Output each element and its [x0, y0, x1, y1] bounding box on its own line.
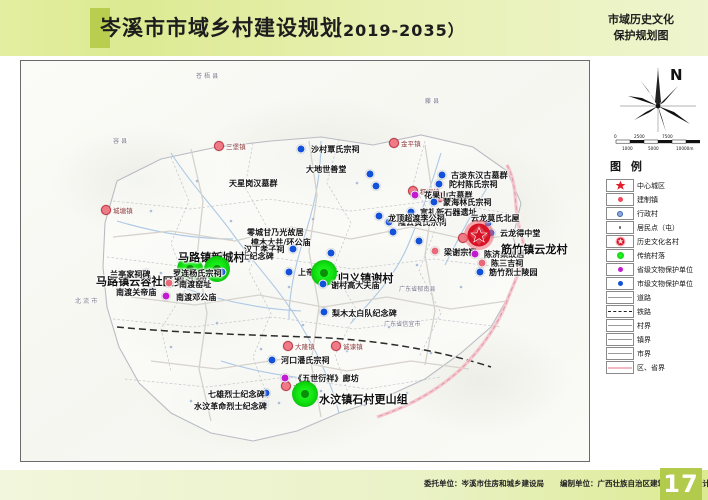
legend-label: 区、省界	[637, 363, 665, 373]
site-marker-municipal[interactable]	[268, 356, 277, 365]
historic-village-icon	[462, 218, 496, 252]
road-line-icon	[608, 297, 632, 298]
town-dot-icon	[618, 197, 623, 202]
legend-label: 行政村	[637, 209, 658, 219]
site-label: 水汶革命烈士纪念碑	[194, 401, 267, 412]
compass-north-label: N	[670, 66, 683, 84]
municipal-relic-icon	[618, 281, 623, 286]
site-marker-provincial[interactable]	[411, 191, 420, 200]
site-marker-municipal[interactable]	[430, 198, 439, 207]
historic-village-icon	[615, 236, 626, 247]
legend-item-railway[interactable]: 铁路	[606, 305, 706, 318]
site-marker-municipal[interactable]	[289, 245, 298, 254]
svg-text:7500: 7500	[662, 134, 673, 139]
legend-item-city-boundary[interactable]: 市界	[606, 347, 706, 360]
city-boundary-icon	[608, 353, 632, 354]
site-marker-municipal[interactable]	[319, 280, 328, 289]
legend-item-town-boundary[interactable]: 镇界	[606, 333, 706, 346]
site-marker-municipal[interactable]	[389, 228, 398, 237]
area-label: 北 流 市	[75, 296, 97, 305]
site-label: 南渡窑址	[179, 279, 211, 290]
compass-rose: N	[612, 62, 704, 134]
map-subtitle-line1: 市域历史文化	[586, 12, 696, 28]
legend-item-town[interactable]: 建制镇	[606, 193, 706, 206]
legend-label: 镇界	[637, 335, 651, 345]
site-marker-municipal[interactable]	[415, 237, 424, 246]
legend-swatch	[606, 361, 634, 374]
province-boundary-icon	[608, 367, 632, 369]
area-label: 广东省郁南县	[399, 284, 436, 293]
town-label: 诚谏镇	[343, 341, 363, 351]
legend-title: 图 例	[610, 158, 706, 174]
legend-item-residence[interactable]: 居民点（屯）	[606, 221, 706, 234]
svg-text:1000: 1000	[622, 146, 633, 151]
legend-item-road[interactable]: 道路	[606, 291, 706, 304]
site-marker-provincial[interactable]	[162, 292, 171, 301]
legend-label: 道路	[637, 293, 651, 303]
site-label-historic-village: 筋竹镇云龙村	[501, 241, 568, 257]
legend-label: 居民点（屯）	[637, 223, 679, 233]
town-label: 城塘镇	[113, 205, 133, 215]
site-marker-municipal[interactable]	[476, 268, 485, 277]
traditional-village-marker[interactable]	[292, 381, 318, 407]
site-marker-municipal[interactable]	[366, 170, 375, 179]
town-boundary-icon	[608, 339, 632, 340]
svg-text:0: 0	[614, 134, 617, 139]
site-label: 罗连杨氏宗祠	[173, 268, 222, 279]
provincial-relic-icon	[618, 267, 623, 272]
legend-swatch	[606, 347, 634, 360]
site-label: 大地世善堂	[306, 164, 347, 175]
legend-swatch	[606, 179, 634, 192]
town-marker[interactable]	[101, 205, 111, 215]
page-title: 岑溪市市域乡村建设规划	[100, 12, 342, 42]
site-marker-municipal[interactable]	[438, 171, 447, 180]
site-marker-municipal[interactable]	[372, 182, 381, 191]
town-marker[interactable]	[283, 341, 293, 351]
legend-item-traditional-village[interactable]: 传统村落	[606, 249, 706, 262]
map-subtitle: 市域历史文化 保护规划图	[586, 12, 696, 44]
town-label: 三堡镇	[226, 141, 246, 151]
legend-swatch	[606, 221, 634, 234]
legend-swatch	[606, 193, 634, 206]
site-label: 兰亭家祠碑	[110, 269, 151, 280]
town-label: 大隆镇	[295, 341, 315, 351]
legend-label: 建制镇	[637, 195, 658, 205]
area-label: 容 县	[113, 136, 127, 145]
site-marker-municipal[interactable]	[285, 268, 294, 277]
residence-dot-icon	[619, 226, 622, 229]
town-marker[interactable]	[331, 341, 341, 351]
legend-label: 省级文物保护单位	[637, 265, 693, 275]
legend-panel: 图 例 中心城区 建制镇 行政村 居民点（屯）	[606, 158, 706, 375]
legend-item-central-city[interactable]: 中心城区	[606, 179, 706, 192]
site-marker-municipal[interactable]	[327, 249, 336, 258]
site-label: 七雄烈士纪念碑	[208, 389, 265, 400]
historic-village-marker[interactable]	[462, 218, 496, 256]
legend-label: 铁路	[637, 307, 651, 317]
map-frame[interactable]: 苍 梧 县 藤 县 容 县 广东省郁南县 广东省信宜市 北 流 市 三堡镇 金平…	[20, 60, 590, 462]
site-label-traditional-village: 水汶镇石村更山组	[319, 391, 408, 407]
site-label: 沙村覃氏宗祠	[311, 144, 360, 155]
legend-label: 历史文化名村	[637, 237, 679, 247]
compass-icon: N	[612, 62, 704, 134]
village-dot-icon	[617, 211, 623, 217]
site-label: 谢村高大夫庙	[331, 280, 380, 291]
site-label: 南渡关帝庙	[116, 287, 157, 298]
legend-swatch	[606, 319, 634, 332]
map-subtitle-line2: 保护规划图	[586, 28, 696, 44]
legend-swatch	[606, 333, 634, 346]
area-label: 藤 县	[425, 96, 439, 105]
site-label: 南渡邓公庙	[176, 292, 217, 303]
site-label: 龙顶超渡李公祠	[388, 213, 445, 224]
page-header: 岑溪市市域乡村建设规划 （2019-2035） 市域历史文化 保护规划图	[0, 0, 708, 56]
legend-swatch	[606, 249, 634, 262]
town-label: 金平镇	[401, 138, 421, 148]
site-marker-other[interactable]	[165, 279, 174, 288]
village-boundary-icon	[608, 325, 632, 326]
legend-item-administrative-village[interactable]: 行政村	[606, 207, 706, 220]
legend-label: 市界	[637, 349, 651, 359]
site-marker-municipal[interactable]	[297, 145, 306, 154]
site-label: 筋竹烈士陵园	[489, 267, 538, 278]
legend-swatch	[606, 277, 634, 290]
site-label: 云龙得中堂	[500, 228, 541, 239]
legend-item-historic-village[interactable]: 历史文化名村	[606, 235, 706, 248]
area-label: 苍 梧 县	[196, 71, 218, 80]
legend-swatch	[606, 263, 634, 276]
site-marker-municipal[interactable]	[375, 212, 384, 221]
svg-text:2500: 2500	[634, 134, 645, 139]
site-marker-municipal[interactable]	[435, 180, 444, 189]
legend-item-municipal-relic[interactable]: 市级文物保护单位	[606, 277, 706, 290]
red-star-icon	[615, 180, 626, 191]
town-marker[interactable]	[281, 381, 291, 391]
page-footer: 委托单位：岑溪市住房和城乡建设局 编制单位：广西壮族自治区建筑科学研究设计院	[0, 470, 708, 500]
site-label: 梨木太白队纪念碑	[332, 308, 397, 319]
credit-entrust: 委托单位：岑溪市住房和城乡建设局	[424, 478, 544, 489]
legend-item-village-boundary[interactable]: 村界	[606, 319, 706, 332]
site-marker-municipal[interactable]	[320, 308, 329, 317]
scale-bar: 0 2500 7500 1000 5000 10000m	[610, 132, 706, 156]
svg-text:10000m: 10000m	[676, 146, 693, 151]
legend-swatch	[606, 305, 634, 318]
area-label: 广东省信宜市	[384, 319, 421, 328]
site-marker-provincial[interactable]	[281, 374, 290, 383]
site-marker-other[interactable]	[431, 247, 440, 256]
legend-label: 中心城区	[637, 181, 665, 191]
legend-label: 传统村落	[637, 251, 665, 261]
site-label: 陀村陈氏宗祠	[449, 179, 498, 190]
site-label: 河口潘氏宗祠	[281, 355, 330, 366]
town-marker[interactable]	[389, 138, 399, 148]
legend-swatch	[606, 291, 634, 304]
legend-label: 市级文物保护单位	[637, 279, 693, 289]
legend-label: 村界	[637, 321, 651, 331]
page-title-years: （2019-2035）	[326, 17, 465, 41]
legend-item-province-boundary[interactable]: 区、省界	[606, 361, 706, 374]
traditional-village-icon	[617, 252, 624, 259]
site-label: 天星岗汉墓群	[229, 178, 278, 189]
svg-text:5000: 5000	[648, 146, 659, 151]
legend-swatch	[606, 235, 634, 248]
page-number-badge: 17	[660, 468, 702, 500]
site-marker-other[interactable]	[478, 259, 487, 268]
legend-swatch	[606, 207, 634, 220]
railway-line-icon	[608, 311, 632, 312]
town-marker[interactable]	[214, 141, 224, 151]
legend-item-provincial-relic[interactable]: 省级文物保护单位	[606, 263, 706, 276]
scale-bar-icon: 0 2500 7500 1000 5000 10000m	[610, 132, 706, 156]
